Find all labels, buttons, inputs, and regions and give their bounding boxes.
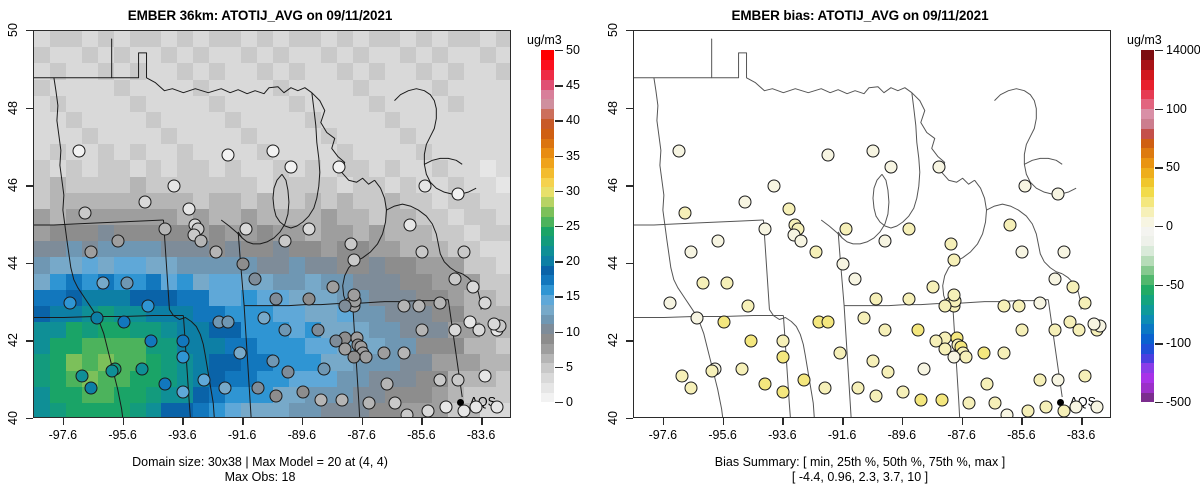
aqs-station-marker [329, 335, 342, 348]
aqs-station-bias-marker [881, 366, 894, 379]
model-caption-line1: Domain size: 30x38 | Max Model = 20 at (… [0, 455, 520, 470]
x-axis-tick-label: -95.6 [708, 428, 737, 442]
aqs-station-bias-marker [1079, 370, 1092, 383]
aqs-station-marker [258, 312, 271, 325]
colorbar-segment [541, 138, 554, 148]
colorbar-tick [1155, 226, 1163, 227]
y-axis-tick [626, 263, 633, 264]
colorbar-segment [1141, 118, 1154, 128]
y-axis-tick-label: 42 [6, 333, 20, 347]
y-axis-tick-label: 50 [6, 23, 20, 37]
aqs-station-marker [296, 385, 309, 398]
aqs-station-bias-marker [672, 145, 685, 158]
colorbar-tick-label: 30 [566, 184, 580, 198]
colorbar-segment [1141, 60, 1154, 70]
aqs-station-marker [440, 401, 453, 414]
aqs-station-marker [198, 374, 211, 387]
aqs-station-bias-marker [1022, 405, 1035, 418]
aqs-station-bias-marker [777, 350, 790, 363]
colorbar-tick [1155, 50, 1163, 51]
aqs-station-marker [210, 246, 223, 259]
colorbar-tick [555, 50, 563, 51]
x-axis-tick [842, 418, 843, 425]
colorbar-segment [1141, 304, 1154, 314]
aqs-station-bias-marker [896, 385, 909, 398]
colorbar-tick [1155, 343, 1163, 344]
colorbar-gradient [541, 50, 554, 402]
aqs-station-bias-marker [867, 354, 880, 367]
x-axis-tick [962, 418, 963, 425]
colorbar-segment [1141, 128, 1154, 138]
colorbar-tick-label: -500 [1166, 395, 1191, 409]
aqs-station-marker [416, 246, 429, 259]
aqs-station-bias-marker [947, 253, 960, 266]
colorbar-segment [1141, 206, 1154, 216]
colorbar-segment [541, 148, 554, 158]
aqs-station-bias-marker [947, 288, 960, 301]
aqs-station-bias-marker [878, 234, 891, 247]
aqs-station-marker [317, 362, 330, 375]
aqs-station-marker [75, 370, 88, 383]
colorbar-tick-label: -100 [1166, 336, 1191, 350]
aqs-station-marker [398, 347, 411, 360]
model-map-plot: AQS [33, 30, 511, 418]
aqs-station-bias-marker [759, 378, 772, 391]
aqs-station-marker [249, 273, 262, 286]
colorbar-segment [1141, 99, 1154, 109]
aqs-station-marker [117, 316, 130, 329]
aqs-station-bias-marker [977, 347, 990, 360]
colorbar-tick-label: 35 [566, 149, 580, 163]
bias-caption-line1: Bias Summary: [ min, 25th %, 50th %, 75t… [600, 455, 1120, 470]
aqs-station-marker [90, 312, 103, 325]
colorbar-segment [541, 177, 554, 187]
aqs-station-marker [470, 401, 483, 414]
colorbar-segment [541, 363, 554, 373]
y-axis-tick [626, 30, 633, 31]
aqs-station-bias-marker [929, 335, 942, 348]
colorbar-tick [1155, 109, 1163, 110]
aqs-station-marker [240, 222, 253, 235]
y-axis-tick-label: 42 [606, 333, 620, 347]
aqs-station-marker [84, 381, 97, 394]
aqs-station-marker [314, 393, 327, 406]
x-axis-tick [242, 418, 243, 425]
aqs-station-bias-marker [783, 203, 796, 216]
aqs-station-bias-marker [795, 234, 808, 247]
aqs-station-bias-marker [1016, 246, 1029, 259]
aqs-station-bias-marker [768, 180, 781, 193]
aqs-station-bias-marker [1019, 180, 1032, 193]
aqs-station-bias-marker [1040, 401, 1053, 414]
colorbar-tick [1155, 167, 1163, 168]
aqs-station-marker [168, 180, 181, 193]
aqs-station-bias-marker [1067, 281, 1080, 294]
aqs-station-bias-marker [840, 222, 853, 235]
x-axis-tick [1021, 418, 1022, 425]
colorbar-tick-label: 14000 [1166, 43, 1200, 57]
aqs-station-bias-marker [998, 347, 1011, 360]
aqs-station-marker [302, 222, 315, 235]
colorbar-segment [541, 167, 554, 177]
y-axis-tick [626, 108, 633, 109]
aqs-station-bias-marker [1070, 401, 1083, 414]
aqs-station-bias-marker [938, 300, 951, 313]
aqs-station-bias-marker [1034, 296, 1047, 309]
aqs-station-marker [491, 401, 504, 414]
colorbar-tick [555, 85, 563, 86]
colorbar-tick [555, 296, 563, 297]
aqs-station-bias-marker [932, 160, 945, 173]
colorbar-segment [1141, 392, 1154, 402]
aqs-station-bias-marker [798, 374, 811, 387]
aqs-station-bias-marker [1016, 323, 1029, 336]
x-axis-tick-label: -83.6 [467, 428, 496, 442]
colorbar-segment [1141, 275, 1154, 285]
colorbar-segment [1141, 138, 1154, 148]
model-caption: Domain size: 30x38 | Max Model = 20 at (… [0, 455, 520, 485]
aqs-station-bias-marker [759, 222, 772, 235]
colorbar-segment [1141, 353, 1154, 363]
aqs-station-marker [177, 350, 190, 363]
aqs-station-bias-marker [962, 397, 975, 410]
colorbar-segment [1141, 246, 1154, 256]
aqs-station-marker [449, 323, 462, 336]
aqs-station-marker [449, 273, 462, 286]
colorbar-tick-label: 20 [566, 254, 580, 268]
aqs-station-bias-marker [822, 316, 835, 329]
y-axis-tick-label: 44 [606, 256, 620, 270]
aqs-station-marker [183, 203, 196, 216]
colorbar-tick [555, 402, 563, 403]
aqs-station-marker [267, 145, 280, 158]
aqs-station-marker [335, 393, 348, 406]
y-axis-tick-label: 50 [606, 23, 620, 37]
aqs-station-marker [479, 296, 492, 309]
x-axis-tick-label: -83.6 [1067, 428, 1096, 442]
colorbar-tick-label: 10 [566, 325, 580, 339]
colorbar-segment [541, 265, 554, 275]
aqs-station-marker [359, 350, 372, 363]
aqs-station-bias-marker [1091, 401, 1104, 414]
colorbar-segment [1141, 314, 1154, 324]
colorbar-segment [1141, 89, 1154, 99]
colorbar-tick-label: 15 [566, 289, 580, 303]
aqs-station-marker [159, 222, 172, 235]
aqs-station-bias-marker [1052, 374, 1065, 387]
aqs-station-bias-marker [1001, 409, 1014, 418]
aqs-station-bias-marker [858, 312, 871, 325]
aqs-station-bias-marker [1013, 300, 1026, 313]
aqs-station-bias-marker [777, 385, 790, 398]
y-axis-tick-label: 46 [6, 178, 20, 192]
aqs-station-bias-marker [944, 238, 957, 251]
aqs-station-marker [362, 397, 375, 410]
colorbar-segment [1141, 216, 1154, 226]
aqs-station-bias-marker [1088, 317, 1101, 330]
x-axis-tick-label: -97.6 [49, 428, 78, 442]
y-axis-tick [626, 340, 633, 341]
aqs-station-bias-marker [878, 323, 891, 336]
colorbar-units-label: ug/m3 [527, 33, 562, 47]
y-axis-tick-label: 46 [606, 178, 620, 192]
colorbar-segment [541, 118, 554, 128]
colorbar-segment [1141, 148, 1154, 158]
aqs-station-marker [302, 292, 315, 305]
colorbar-tick-label: 40 [566, 113, 580, 127]
colorbar-tick-label: 25 [566, 219, 580, 233]
y-axis-tick [26, 263, 33, 264]
aqs-station-bias-marker [777, 335, 790, 348]
aqs-station-marker [159, 378, 172, 391]
colorbar-segment [541, 334, 554, 344]
aqs-station-bias-marker [867, 145, 880, 158]
x-axis-tick [63, 418, 64, 425]
x-axis-tick-label: -91.6 [228, 428, 257, 442]
colorbar-segment [1141, 50, 1154, 60]
colorbar-segment [1141, 382, 1154, 392]
aqs-station-marker [138, 195, 151, 208]
aqs-station-bias-marker [678, 207, 691, 220]
aqs-station-bias-marker [690, 312, 703, 325]
x-axis-tick-label: -97.6 [649, 428, 678, 442]
colorbar-tick [555, 191, 563, 192]
aqs-station-bias-marker [1052, 187, 1065, 200]
colorbar-segment [541, 99, 554, 109]
aqs-station-marker [120, 277, 133, 290]
colorbar-segment [541, 373, 554, 383]
aqs-station-bias-marker [869, 292, 882, 305]
aqs-station-bias-marker [980, 378, 993, 391]
aqs-station-marker [380, 378, 393, 391]
colorbar-segment [1141, 255, 1154, 265]
x-axis-tick [782, 418, 783, 425]
aqs-station-bias-marker [819, 381, 832, 394]
aqs-station-bias-marker [675, 370, 688, 383]
aqs-station-bias-marker [935, 393, 948, 406]
aqs-station-marker [284, 160, 297, 173]
aqs-station-marker [416, 323, 429, 336]
colorbar-segment [541, 89, 554, 99]
x-axis-tick-label: -93.6 [168, 428, 197, 442]
model-panel: EMBER 36km: ATOTIJ_AVG on 09/11/2021 [0, 0, 600, 502]
aqs-station-bias-marker [1049, 273, 1062, 286]
aqs-station-marker [479, 370, 492, 383]
aqs-station-marker [78, 207, 91, 220]
aqs-station-marker [338, 300, 351, 313]
x-axis-tick-label: -85.6 [1007, 428, 1036, 442]
aqs-station-marker [398, 300, 411, 313]
aqs-station-bias-marker [822, 149, 835, 162]
colorbar-segment [1141, 294, 1154, 304]
x-axis-tick-label: -87.6 [947, 428, 976, 442]
aqs-station-bias-marker [849, 273, 862, 286]
x-axis-tick-label: -85.6 [407, 428, 436, 442]
x-axis-tick [902, 418, 903, 425]
colorbar-segment [541, 60, 554, 70]
y-axis-tick [626, 185, 633, 186]
aqs-station-marker [252, 381, 265, 394]
aqs-station-marker [222, 149, 235, 162]
colorbar-tick-label: 50 [1166, 160, 1180, 174]
aqs-station-bias-marker [1034, 374, 1047, 387]
aqs-station-marker [389, 397, 402, 410]
aqs-station-marker [467, 281, 480, 294]
colorbar-gradient [1141, 50, 1154, 402]
colorbar-segment [541, 206, 554, 216]
aqs-station-bias-marker [911, 323, 924, 336]
aqs-station-bias-marker [998, 300, 1011, 313]
x-axis-tick [302, 418, 303, 425]
x-axis-tick-label: -87.6 [347, 428, 376, 442]
aqs-station-marker [347, 288, 360, 301]
x-axis-tick-label: -89.6 [288, 428, 317, 442]
aqs-station-marker [281, 366, 294, 379]
aqs-station-bias-marker [917, 362, 930, 375]
aqs-station-bias-marker [705, 364, 718, 377]
colorbar-segment [541, 70, 554, 80]
colorbar-tick [555, 120, 563, 121]
colorbar-tick [1155, 285, 1163, 286]
colorbar-segment [541, 255, 554, 265]
aqs-station-marker [278, 234, 291, 247]
x-axis-tick [123, 418, 124, 425]
aqs-station-marker [237, 257, 250, 270]
aqs-station-bias-marker [926, 281, 939, 294]
y-axis-tick [26, 108, 33, 109]
x-axis-tick-label: -91.6 [828, 428, 857, 442]
y-axis-tick-label: 48 [606, 101, 620, 115]
colorbar-segment [541, 294, 554, 304]
aqs-station-marker [422, 405, 435, 418]
colorbar-segment [541, 314, 554, 324]
aqs-station-marker [326, 281, 339, 294]
y-axis-tick-label: 40 [6, 411, 20, 425]
aqs-station-bias-marker [914, 393, 927, 406]
colorbar-segment [1141, 285, 1154, 295]
aqs-station-bias-marker [696, 277, 709, 290]
colorbar-tick-label: 0 [566, 395, 573, 409]
colorbar-tick-label: -50 [1166, 278, 1184, 292]
colorbar-segment [541, 353, 554, 363]
x-axis-tick-label: -95.6 [108, 428, 137, 442]
aqs-station-marker [311, 323, 324, 336]
aqs-station-marker [177, 385, 190, 398]
aqs-station-marker [177, 335, 190, 348]
colorbar-tick [555, 261, 563, 262]
aqs-station-bias-marker [1004, 219, 1017, 232]
aqs-station-marker [488, 317, 501, 330]
x-axis-tick [723, 418, 724, 425]
colorbar-tick-label: 5 [566, 360, 573, 374]
colorbar-segment [541, 246, 554, 256]
colorbar-segment [1141, 363, 1154, 373]
y-axis-tick [626, 418, 633, 419]
aqs-station-marker [452, 187, 465, 200]
aqs-station-bias-marker [902, 292, 915, 305]
bias-caption: Bias Summary: [ min, 25th %, 50th %, 75t… [600, 455, 1120, 485]
aqs-station-marker [419, 180, 432, 193]
x-axis-tick [481, 418, 482, 425]
colorbar-tick-label: 0 [1166, 219, 1173, 233]
x-axis-tick [663, 418, 664, 425]
colorbar-segment [541, 392, 554, 402]
y-axis-tick-label: 40 [606, 411, 620, 425]
aqs-station-marker [141, 300, 154, 313]
colorbar-tick [1155, 402, 1163, 403]
colorbar-segment [1141, 70, 1154, 80]
aqs-station-marker [269, 389, 282, 402]
colorbar-segment [541, 226, 554, 236]
colorbar-segment [541, 50, 554, 60]
aqs-station-bias-marker [717, 316, 730, 329]
x-axis-tick [421, 418, 422, 425]
aqs-station-marker [63, 296, 76, 309]
model-panel-title: EMBER 36km: ATOTIJ_AVG on 09/11/2021 [0, 8, 520, 23]
aqs-station-bias-marker [1064, 316, 1077, 329]
colorbar-tick [555, 332, 563, 333]
colorbar-segment [1141, 177, 1154, 187]
aqs-station-marker [332, 160, 345, 173]
bias-caption-line2: [ -4.4, 0.96, 2.3, 3.7, 10 ] [600, 470, 1120, 485]
aqs-station-marker [344, 238, 357, 251]
aqs-station-marker [404, 219, 417, 232]
aqs-station-bias-marker [852, 381, 865, 394]
colorbar-segment [1141, 158, 1154, 168]
x-axis-tick [182, 418, 183, 425]
colorbar-segment [1141, 343, 1154, 353]
figure-root: EMBER 36km: ATOTIJ_AVG on 09/11/2021 [0, 0, 1200, 502]
colorbar-segment [541, 187, 554, 197]
aqs-station-bias-marker [959, 350, 972, 363]
colorbar-segment [1141, 79, 1154, 89]
aqs-station-marker [347, 253, 360, 266]
aqs-station-bias-marker [989, 397, 1002, 410]
aqs-station-marker [401, 409, 414, 418]
aqs-station-marker [234, 347, 247, 360]
aqs-station-bias-marker [834, 347, 847, 360]
aqs-station-marker [72, 145, 85, 158]
aqs-station-bias-marker [1058, 246, 1071, 259]
colorbar-tick [555, 226, 563, 227]
aqs-station-marker [195, 234, 208, 247]
aqs-station-marker [434, 296, 447, 309]
colorbar-segment [1141, 226, 1154, 236]
aqs-station-marker [269, 292, 282, 305]
colorbar-segment [541, 216, 554, 226]
y-axis-tick [26, 30, 33, 31]
aqs-station-bias-marker [684, 246, 697, 259]
aqs-station-marker [105, 364, 118, 377]
colorbar-tick-label: 100 [1166, 102, 1187, 116]
aqs-station-bias-marker [735, 362, 748, 375]
colorbar-segment [1141, 334, 1154, 344]
colorbar-segment [541, 343, 554, 353]
x-axis-tick [1081, 418, 1082, 425]
colorbar-segment [541, 109, 554, 119]
colorbar-segment [541, 158, 554, 168]
colorbar-units-label: ug/m3 [1127, 33, 1162, 47]
colorbar-segment [1141, 324, 1154, 334]
colorbar-segment [1141, 197, 1154, 207]
y-axis-tick [26, 185, 33, 186]
aqs-station-bias-marker [884, 160, 897, 173]
aqs-station-bias-marker [837, 257, 850, 270]
x-axis-tick-label: -89.6 [888, 428, 917, 442]
aqs-station-marker [96, 277, 109, 290]
bias-panel: EMBER bias: ATOTIJ_AVG on 09/11/2021 [600, 0, 1200, 502]
colorbar-segment [1141, 265, 1154, 275]
